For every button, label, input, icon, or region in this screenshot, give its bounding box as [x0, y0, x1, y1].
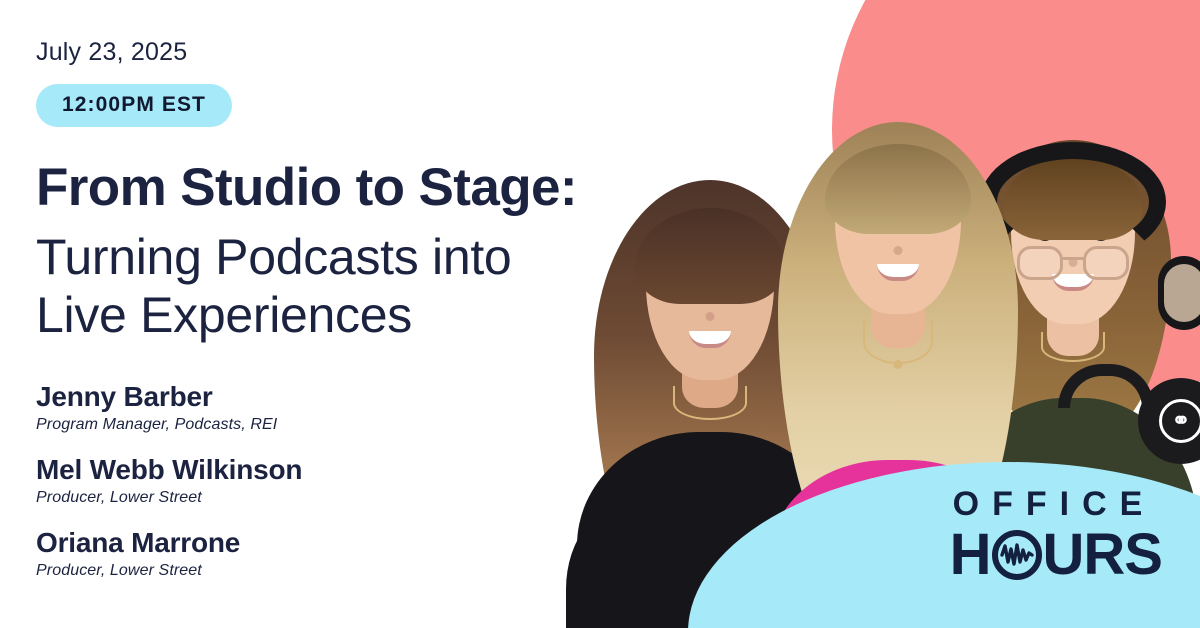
title-line-1: From Studio to Stage:: [36, 159, 620, 216]
logo-letter-h: H: [950, 526, 991, 584]
speaker-role: Producer, Lower Street: [36, 562, 620, 580]
title-line-3: Live Experiences: [36, 286, 620, 344]
content-column: July 23, 2025 12:00PM EST From Studio to…: [0, 0, 620, 628]
speaker-item: Mel Webb Wilkinson Producer, Lower Stree…: [36, 455, 620, 507]
earcup-pad: [1164, 264, 1200, 322]
event-date: July 23, 2025: [36, 38, 620, 67]
waveform-circle-icon: [992, 530, 1042, 580]
logo-letters-urs: URS: [1043, 526, 1162, 584]
speaker-role: Producer, Lower Street: [36, 489, 620, 507]
promo-canvas: ⚭ July 23, 2025 12:00PM EST From Studio …: [0, 0, 1200, 628]
logo-word-hours: H URS: [950, 526, 1162, 584]
speaker-item: Jenny Barber Program Manager, Podcasts, …: [36, 382, 620, 434]
necklace: [673, 386, 747, 420]
speaker-item: Oriana Marrone Producer, Lower Street: [36, 528, 620, 580]
smile: [877, 264, 919, 281]
office-hours-logo: OFFICE H URS: [950, 487, 1162, 584]
speaker-name: Mel Webb Wilkinson: [36, 455, 620, 486]
smile: [689, 331, 731, 348]
event-time-badge: 12:00PM EST: [36, 84, 232, 127]
pendant: [894, 360, 903, 369]
necklace: [1041, 332, 1105, 362]
webinar-title: From Studio to Stage: Turning Podcasts i…: [36, 159, 620, 344]
speaker-name: Jenny Barber: [36, 382, 620, 413]
logo-word-office: OFFICE: [950, 487, 1162, 521]
nose: [894, 246, 903, 255]
headphone-brand-mark: ⚭: [1159, 399, 1200, 443]
necklace: [863, 320, 933, 364]
nose: [706, 312, 715, 321]
headphone-earcup-right: [1158, 256, 1200, 330]
speaker-list: Jenny Barber Program Manager, Podcasts, …: [36, 382, 620, 579]
speaker-role: Program Manager, Podcasts, REI: [36, 416, 620, 434]
speaker-name: Oriana Marrone: [36, 528, 620, 559]
title-line-2: Turning Podcasts into: [36, 228, 620, 286]
